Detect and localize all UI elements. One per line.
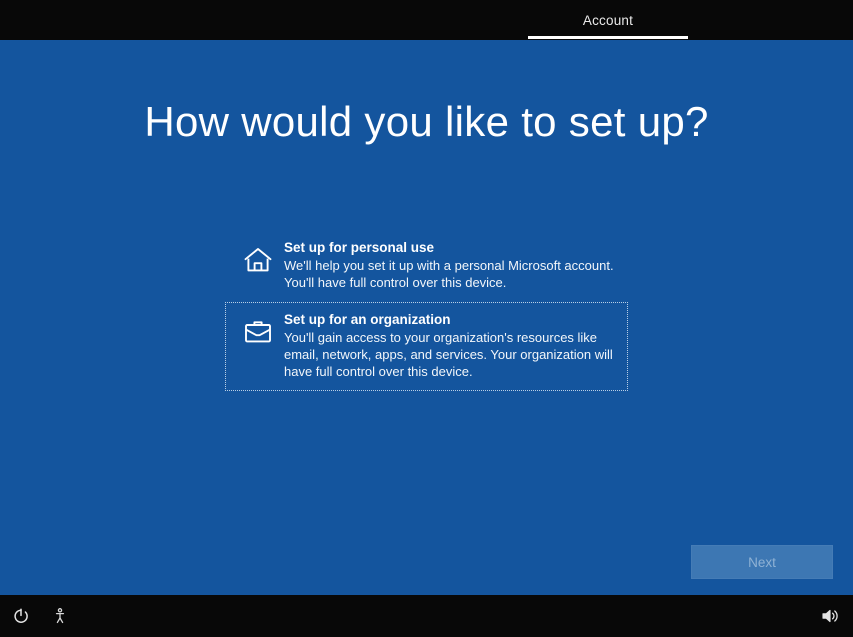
oobe-screen: Account How would you like to set up? Se… xyxy=(0,0,853,637)
taskbar xyxy=(0,595,853,637)
setup-option-list: Set up for personal use We'll help you s… xyxy=(225,230,628,391)
ease-of-access-icon[interactable] xyxy=(48,604,72,628)
home-icon xyxy=(236,241,280,279)
next-button[interactable]: Next xyxy=(691,545,833,579)
option-personal-use-desc-line-2: You'll have full control over this devic… xyxy=(284,274,617,291)
briefcase-icon xyxy=(236,313,280,351)
account-tab-underline xyxy=(528,36,688,39)
option-personal-use-desc-line-1: We'll help you set it up with a personal… xyxy=(284,257,617,274)
option-personal-use-body: Set up for personal use We'll help you s… xyxy=(280,239,617,291)
account-tab-label: Account xyxy=(583,13,633,28)
account-tab[interactable]: Account xyxy=(528,0,688,40)
option-personal-use-title: Set up for personal use xyxy=(284,239,617,256)
option-organization-title: Set up for an organization xyxy=(284,311,617,328)
option-organization-desc-line-2: email, network, apps, and services. Your… xyxy=(284,346,617,363)
option-organization-desc-line-3: have full control over this device. xyxy=(284,363,617,380)
page-title: How would you like to set up? xyxy=(0,98,853,146)
next-button-label: Next xyxy=(748,555,776,570)
title-bar: Account xyxy=(0,0,853,40)
option-organization-body: Set up for an organization You'll gain a… xyxy=(280,311,617,380)
option-personal-use[interactable]: Set up for personal use We'll help you s… xyxy=(225,230,628,302)
option-organization-desc-line-1: You'll gain access to your organization'… xyxy=(284,329,617,346)
option-organization[interactable]: Set up for an organization You'll gain a… xyxy=(225,302,628,391)
main-content: How would you like to set up? Set up for… xyxy=(0,40,853,595)
power-icon[interactable] xyxy=(9,604,33,628)
volume-icon[interactable] xyxy=(818,604,842,628)
